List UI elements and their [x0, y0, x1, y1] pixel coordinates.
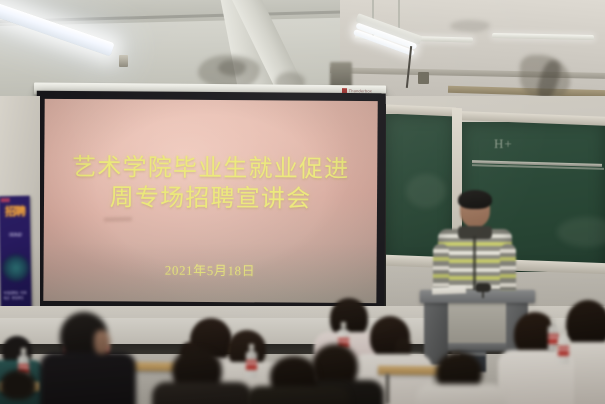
- projection-screen: 艺术学院毕业生就业促进 周专场招聘宣讲会 2021年5月18日: [35, 91, 386, 319]
- chalk-writing: H+: [494, 136, 513, 152]
- desk-leg: [386, 374, 389, 404]
- banner-subtitle: （双选会）: [1, 232, 29, 238]
- ceiling-socket: [119, 55, 128, 67]
- ceiling-water-stain: [218, 60, 246, 76]
- audience-member: [158, 348, 244, 404]
- podium-papers: [432, 286, 466, 294]
- audience-member: [250, 356, 342, 404]
- banner-headline: 招聘: [0, 206, 30, 219]
- projection-screen-surface: 艺术学院毕业生就业促进 周专场招聘宣讲会 2021年5月18日: [43, 99, 377, 303]
- light-hanger-rod: [398, 0, 400, 28]
- banner-body-text: 专场招聘会 · 时间地点 · 参会单位: [3, 291, 29, 301]
- speaker-hair: [458, 190, 492, 209]
- audience-member: [0, 370, 40, 404]
- banner-graphic: [2, 254, 30, 282]
- audience-member: [420, 352, 498, 404]
- screen-smudge: [104, 217, 132, 222]
- ceiling-water-stain: [450, 20, 490, 32]
- slide-title: 艺术学院毕业生就业促进 周专场招聘宣讲会: [44, 153, 377, 215]
- wall-socket: [418, 72, 429, 84]
- slide-date: 2021年5月18日: [43, 259, 376, 280]
- classroom-photo-scene: Thunderbox 艺术学院毕业生就业促进 周专场招聘宣讲会 2021年5月1…: [0, 0, 605, 404]
- microphone-icon: [475, 283, 491, 292]
- slide-title-line-1: 艺术学院毕业生就业促进: [44, 153, 377, 185]
- banner-tag: [1, 198, 10, 202]
- slide-title-line-2: 周专场招聘宣讲会: [44, 183, 377, 215]
- audience-member: [42, 312, 128, 404]
